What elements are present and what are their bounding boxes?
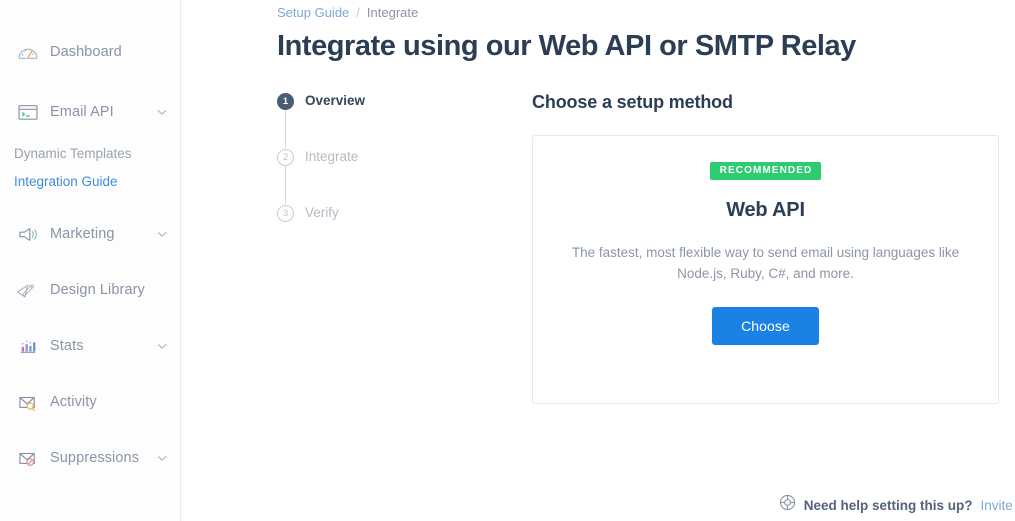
sidebar-item-email-api[interactable]: Email API: [0, 90, 180, 134]
sidebar-item-integration-guide[interactable]: Integration Guide: [0, 168, 180, 196]
step-integrate[interactable]: 2 Integrate: [277, 148, 532, 204]
setup-stepper: 1 Overview 2 Integrate 3 Verify: [277, 90, 532, 404]
step-label: Verify: [305, 204, 339, 221]
sidebar-item-label: Marketing: [50, 226, 115, 242]
pencil-ruler-icon: [14, 278, 42, 302]
page-title: Integrate using our Web API or SMTP Rela…: [277, 30, 1015, 63]
sidebar-item-label: Activity: [50, 394, 97, 410]
sidebar-item-activity[interactable]: Activity: [0, 380, 180, 424]
choose-setup-panel: Choose a setup method RECOMMENDED Web AP…: [532, 90, 1015, 404]
content-row: 1 Overview 2 Integrate 3 Verify Choose a…: [277, 90, 1015, 404]
terminal-icon: [14, 100, 42, 124]
step-label: Integrate: [305, 148, 358, 165]
step-verify[interactable]: 3 Verify: [277, 204, 532, 260]
breadcrumb-root-link[interactable]: Setup Guide: [277, 5, 349, 20]
chevron-down-icon[interactable]: [156, 106, 168, 118]
breadcrumb-separator: /: [356, 5, 360, 20]
step-number-badge: 1: [277, 93, 294, 110]
step-overview[interactable]: 1 Overview: [277, 92, 532, 148]
sidebar-item-dynamic-templates[interactable]: Dynamic Templates: [0, 140, 180, 168]
invite-link[interactable]: Invite a: [980, 498, 1015, 513]
method-description: The fastest, most flexible way to send e…: [570, 242, 962, 284]
envelope-search-icon: [14, 390, 42, 414]
sidebar-item-label: Email API: [50, 104, 114, 120]
chevron-down-icon[interactable]: [156, 228, 168, 240]
step-connector: [285, 110, 286, 148]
sidebar-item-label: Suppressions: [50, 450, 139, 466]
sidebar: Dashboard Email API Dynamic Templates In…: [0, 0, 181, 521]
breadcrumb-current: Integrate: [367, 5, 418, 20]
recommended-badge: RECOMMENDED: [710, 162, 822, 180]
breadcrumb: Setup Guide / Integrate: [277, 5, 1015, 20]
bar-chart-icon: [14, 334, 42, 358]
step-number-badge: 3: [277, 205, 294, 222]
megaphone-icon: [14, 222, 42, 246]
sidebar-item-label: Design Library: [50, 282, 145, 298]
step-number-badge: 2: [277, 149, 294, 166]
sidebar-item-label: Stats: [50, 338, 84, 354]
help-text: Need help setting this up?: [804, 498, 973, 513]
chevron-down-icon[interactable]: [156, 340, 168, 352]
sidebar-sublist-email-api: Dynamic Templates Integration Guide: [0, 140, 180, 196]
app-root: Dashboard Email API Dynamic Templates In…: [0, 0, 1015, 521]
step-connector: [285, 166, 286, 204]
sidebar-item-label: Dashboard: [50, 44, 122, 60]
sidebar-item-suppressions[interactable]: Suppressions: [0, 436, 180, 480]
lifebuoy-icon: [779, 494, 796, 516]
main-content: Setup Guide / Integrate Integrate using …: [181, 0, 1015, 521]
sidebar-item-dashboard[interactable]: Dashboard: [0, 30, 180, 74]
choose-heading: Choose a setup method: [532, 92, 1005, 113]
sidebar-item-stats[interactable]: Stats: [0, 324, 180, 368]
help-bar: Need help setting this up? Invite a: [779, 494, 1015, 516]
web-api-method-card[interactable]: RECOMMENDED Web API The fastest, most fl…: [532, 135, 999, 404]
method-name: Web API: [726, 199, 805, 222]
gauge-icon: [14, 40, 42, 64]
sidebar-item-design-library[interactable]: Design Library: [0, 268, 180, 312]
step-label: Overview: [305, 92, 365, 109]
sidebar-item-marketing[interactable]: Marketing: [0, 212, 180, 256]
choose-button[interactable]: Choose: [712, 307, 819, 345]
chevron-down-icon[interactable]: [156, 452, 168, 464]
envelope-block-icon: [14, 446, 42, 470]
